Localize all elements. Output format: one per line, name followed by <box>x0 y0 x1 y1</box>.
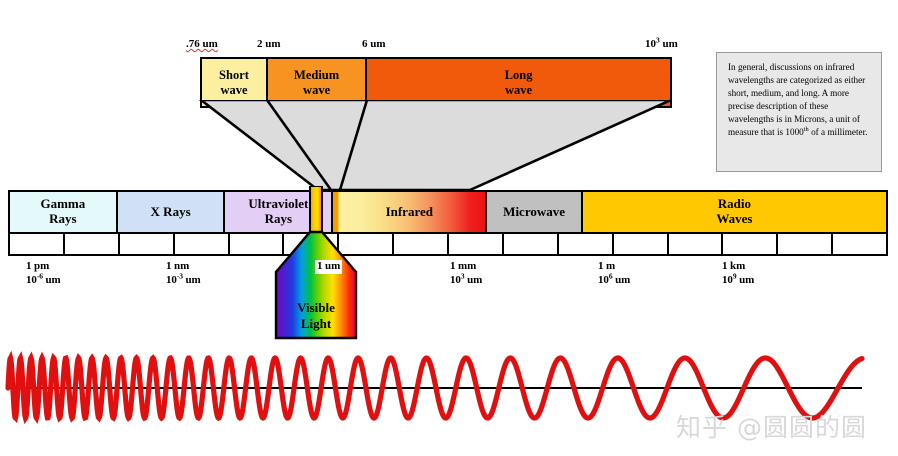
spectrum-tick-row <box>8 234 888 256</box>
spectrum-tick-cell <box>120 234 175 254</box>
spectrum-tick-cell <box>778 234 833 254</box>
ir-tick-label-076um: .76 um <box>186 38 218 50</box>
spectrum-tick-cell <box>559 234 614 254</box>
ir-tick-text-076um: .76 um <box>186 38 218 50</box>
note-text-tail: of a millimeter. <box>809 127 868 137</box>
scale-label-1mm: 1 mm103 um <box>450 260 482 288</box>
spectrum-band-ultraviolet-rays-label: UltravioletRays <box>248 197 308 227</box>
spectrum-tick-cell <box>394 234 449 254</box>
wavelength-illustration <box>0 330 898 456</box>
scale-label-1nm: 1 nm10-3 um <box>166 260 201 288</box>
diagram-canvas: .76 um 2 um 6 um 103 um Shortwave Medium… <box>0 0 898 456</box>
spectrum-tick-cell <box>723 234 778 254</box>
spectrum-tick-cell <box>614 234 669 254</box>
ir-tick-label-2um: 2 um <box>257 38 281 50</box>
spectrum-tick-cell <box>175 234 230 254</box>
spectrum-tick-cell <box>10 234 65 254</box>
spectrum-tick-cell <box>65 234 120 254</box>
spectrum-band-infrared-label: Infrared <box>386 205 433 220</box>
ir-segment-short-wave[interactable]: Shortwave <box>202 59 268 106</box>
ir-tick-base: 10 <box>645 38 656 50</box>
spectrum-band-radio-waves-label: RadioWaves <box>716 197 752 227</box>
scale-label-1pm: 1 pm10-6 um <box>26 260 61 288</box>
ir-segment-medium-wave[interactable]: Mediumwave <box>268 59 367 106</box>
infrared-note-box: In general, discussions on infrared wave… <box>716 52 882 172</box>
prism-neck <box>310 186 322 232</box>
ir-tick-tail: um <box>660 38 678 50</box>
spectrum-tick-cell <box>833 234 886 254</box>
spectrum-band-x-rays-label: X Rays <box>151 205 191 220</box>
scale-label-1km: 1 km109 um <box>722 260 754 288</box>
ir-segment-short-wave-label: Shortwave <box>219 68 249 97</box>
ir-tick-label-1000um: 103 um <box>645 38 678 50</box>
spectrum-tick-cell <box>669 234 724 254</box>
spectrum-band-x-rays[interactable]: X Rays <box>118 192 226 232</box>
ir-segment-long-wave[interactable]: Longwave <box>367 59 670 106</box>
spectrum-band-microwave[interactable]: Microwave <box>487 192 582 232</box>
ir-segment-medium-wave-label: Mediumwave <box>294 68 339 97</box>
funnel-shape <box>201 100 671 190</box>
spectrum-band-gamma-rays[interactable]: GammaRays <box>10 192 118 232</box>
spectrum-bar: GammaRays X Rays UltravioletRays Infrare… <box>8 190 888 234</box>
ir-tick-label-6um: 6 um <box>362 38 386 50</box>
spectrum-band-gamma-rays-label: GammaRays <box>40 197 85 227</box>
scale-label-1m: 1 m106 um <box>598 260 630 288</box>
spectrum-band-microwave-label: Microwave <box>503 205 565 220</box>
spectrum-tick-cell <box>504 234 559 254</box>
spectrum-tick-cell <box>449 234 504 254</box>
prism-body <box>276 232 356 338</box>
ir-segment-long-wave-label: Longwave <box>505 68 533 97</box>
spectrum-band-radio-waves[interactable]: RadioWaves <box>583 192 886 232</box>
scale-label-1um: 1 um <box>315 260 342 274</box>
